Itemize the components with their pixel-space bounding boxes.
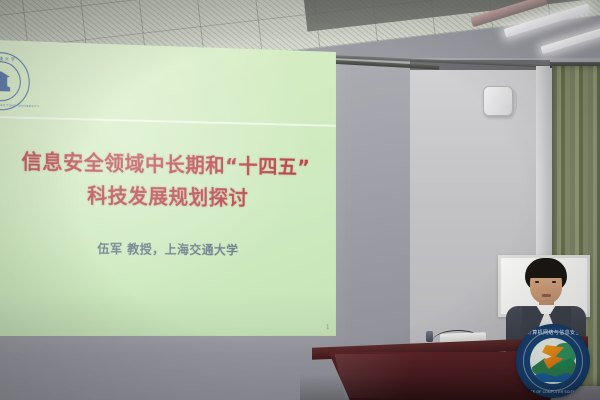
projected-slide: 上海交通大学 SHANGHAI JIAO TONG UNIVERSITY 信息安… [0, 40, 336, 336]
sjtu-seal-icon: 上海交通大学 SHANGHAI JIAO TONG UNIVERSITY [0, 51, 30, 111]
floor-shadow [300, 374, 600, 400]
slide-title: 信息安全领域中长期和“十四五” 科技发展规划探讨 [0, 145, 336, 216]
presenter-mouth [542, 294, 551, 297]
fluorescent-light-icon [540, 26, 600, 55]
lecture-room-photo: 上海交通大学 SHANGHAI JIAO TONG UNIVERSITY 信息安… [0, 0, 600, 400]
presenter-hair-fringe [526, 263, 566, 278]
slide-title-line-2: 科技发展规划探讨 [8, 178, 323, 216]
slide-bottom-fade [0, 290, 336, 336]
presenter-eye-right [552, 281, 556, 283]
slide-byline: 伍军 教授，上海交通大学 [0, 237, 336, 259]
sjtu-seal-inner-ring [0, 61, 21, 102]
wall-speaker-icon [483, 86, 513, 116]
slide-page-number: 1 [326, 324, 330, 331]
slide-divider-line [0, 116, 336, 127]
sjtu-seal-core [0, 71, 11, 92]
presenter-eye-left [535, 281, 539, 283]
slide-title-line-1: 信息安全领域中长期和“十四五” [8, 145, 323, 184]
emblem-top-text: 国家计算机网络与信息安全管理中心 [516, 329, 590, 336]
sjtu-seal-top-text: 上海交通大学 [0, 56, 17, 63]
slide-surface: 上海交通大学 SHANGHAI JIAO TONG UNIVERSITY 信息安… [0, 40, 336, 336]
sjtu-seal-bottom-text: SHANGHAI JIAO TONG UNIVERSITY [0, 103, 40, 109]
